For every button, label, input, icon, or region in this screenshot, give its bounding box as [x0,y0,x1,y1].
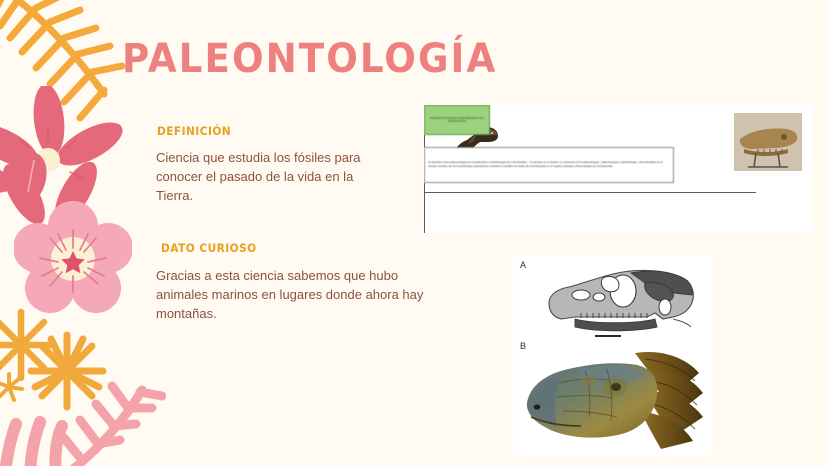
diagram-root-node: PALEONTOLOGÍA DE INVERTEBRADOS NO DINOSA… [424,105,490,135]
figure-label-a: A [520,260,526,270]
diagram-connector-root [424,135,425,147]
diagram-connector-drop [424,229,425,233]
fern-leaf-pink-a-icon [0,400,88,466]
daisy-yellow-tiny-icon [0,372,24,402]
page-title: PALEONTOLOGÍA [122,36,497,82]
section-body-dato-curioso: Gracias a esta ciencia sabemos que hubo … [156,266,431,323]
figure-scale-bar [595,335,621,337]
small-petal-icon [8,152,54,204]
fern-leaf-orange-top-left-icon [0,0,142,136]
section-body-definicion: Ciencia que estudia los fósiles para con… [156,148,386,205]
daisy-yellow-a-icon [0,306,60,384]
diagram-description-node: se describe como paleozoología de invert… [424,147,674,183]
dinosaur-skull-line-drawing [535,261,703,337]
diagram-connector-desc [424,183,425,192]
section-heading-definicion: DEFINICIÓN [157,124,231,138]
fern-leaf-pink-b-icon [58,376,166,466]
diagram-connector-bus [424,192,756,193]
fossil-skull-mount-photo [734,113,802,171]
slide-canvas: PALEONTOLOGÍA DEFINICIÓN Ciencia que est… [0,0,828,466]
dinosaur-skull-figure: A B [513,255,712,456]
coral-flower-icon [0,86,124,226]
paleontology-concept-map-figure: PALEONTOLOGÍA DE INVERTEBRADOS NO DINOSA… [424,105,812,233]
sakura-flower-pink-icon [14,200,132,318]
dinosaur-head-reconstruction-painting [519,347,709,451]
section-heading-dato-curioso: DATO CURIOSO [161,241,257,255]
daisy-yellow-b-icon [26,330,108,412]
